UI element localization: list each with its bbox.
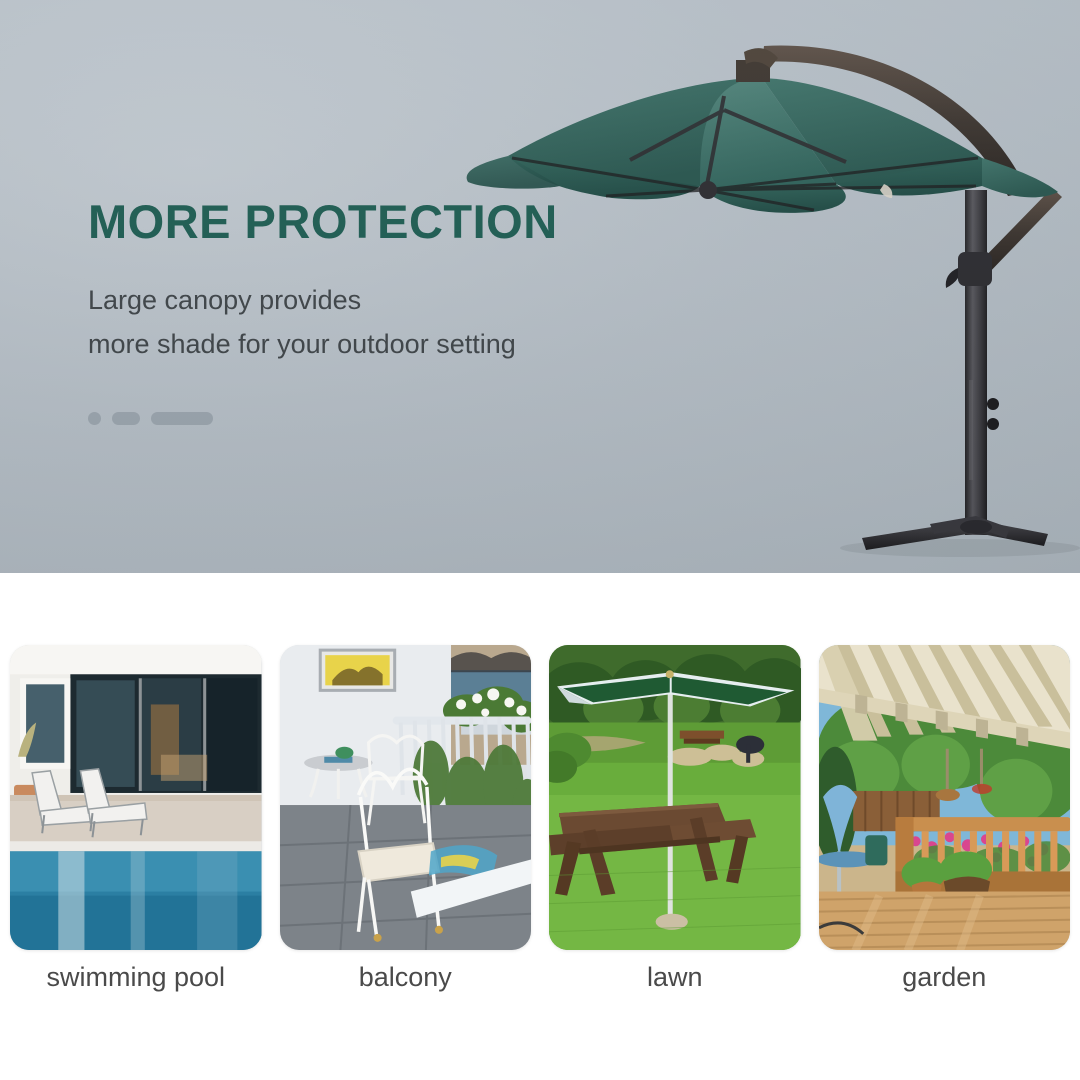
- pill-large-icon: [151, 412, 213, 425]
- pill-medium-icon: [112, 412, 140, 425]
- decorative-dots: [88, 412, 213, 425]
- gallery-tile-garden[interactable]: [819, 645, 1071, 950]
- balcony-image: [280, 645, 532, 950]
- caption-swimming-pool: swimming pool: [10, 962, 262, 993]
- swimming-pool-image: [10, 645, 262, 950]
- lawn-image: [549, 645, 801, 950]
- crank-housing: [958, 252, 992, 286]
- caption-lawn: lawn: [549, 962, 801, 993]
- subtitle-line-2: more shade for your outdoor setting: [88, 322, 516, 366]
- scene-gallery: [0, 645, 1080, 950]
- page-title: MORE PROTECTION: [88, 198, 558, 245]
- subtitle-line-1: Large canopy provides: [88, 278, 516, 322]
- gallery-tile-balcony[interactable]: [280, 645, 532, 950]
- dot-small-icon: [88, 412, 101, 425]
- garden-image: [819, 645, 1071, 950]
- hero-banner: MORE PROTECTION Large canopy provides mo…: [0, 0, 1080, 573]
- gallery-tile-swimming-pool[interactable]: [10, 645, 262, 950]
- hero-subtitle: Large canopy provides more shade for you…: [88, 278, 516, 366]
- caption-garden: garden: [819, 962, 1071, 993]
- umbrella-pole: [965, 190, 987, 535]
- gallery-captions: swimming pool balcony lawn garden: [0, 962, 1080, 993]
- gallery-tile-lawn[interactable]: [549, 645, 801, 950]
- caption-balcony: balcony: [280, 962, 532, 993]
